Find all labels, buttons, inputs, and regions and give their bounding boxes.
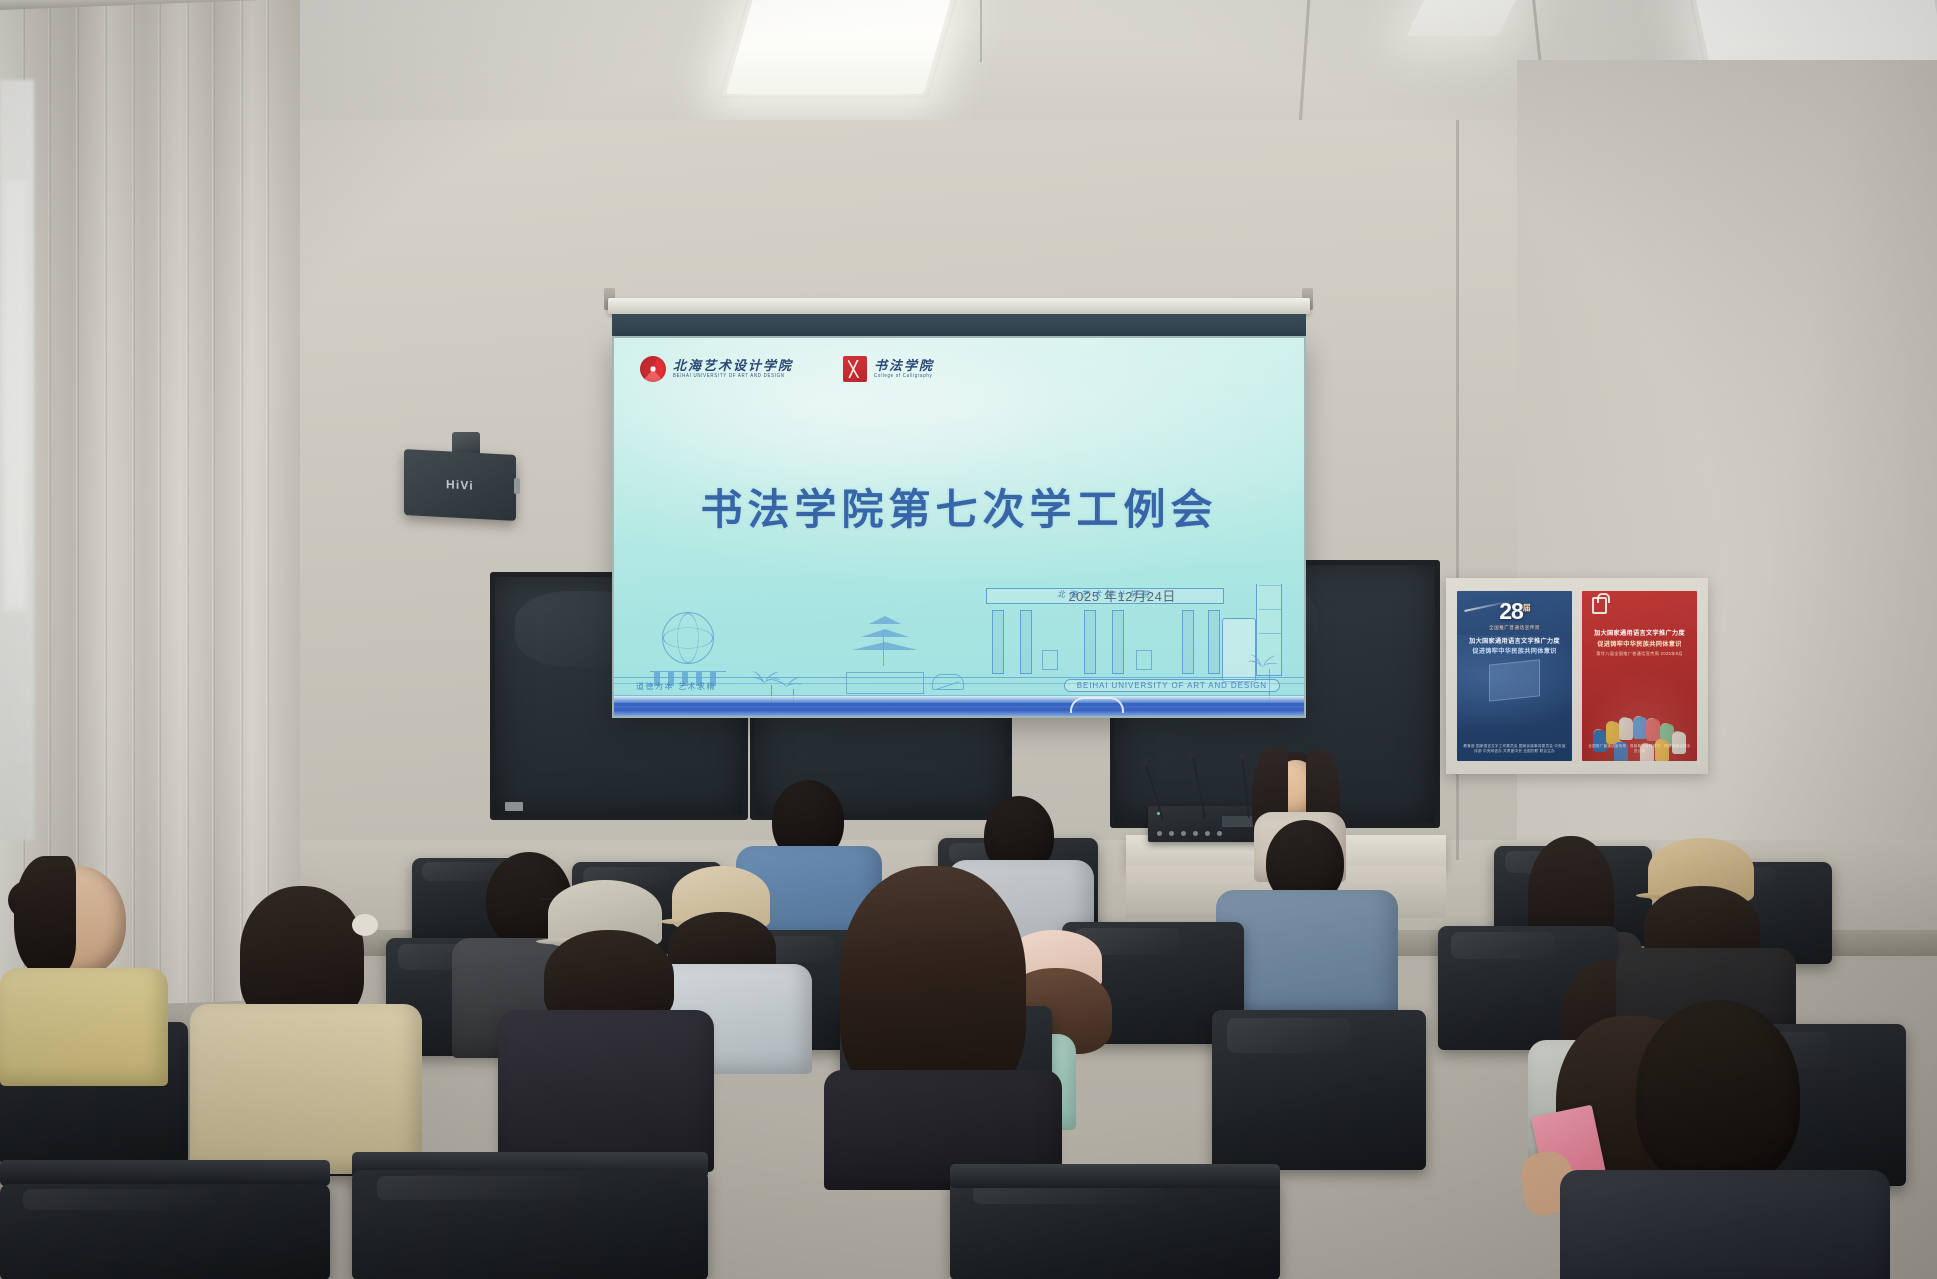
poster-line-2: 促进铸牢中华民族共同体意识 xyxy=(1461,647,1568,656)
poster-red-footer: 全国推广普通话宣传周 · 推普助力乡村振兴 · 同讲普通话携手进小康 xyxy=(1587,744,1692,756)
poster-putonghua-week-blue[interactable]: 28届 全国推广普通话宣传周 加大国家通用语言文字推广力度 促进铸牢中华民族共同… xyxy=(1457,591,1572,761)
college-of-calligraphy-logo: 书法学院 College of Calligraphy xyxy=(843,356,934,382)
ceiling-light-panel-left xyxy=(726,0,953,94)
wave-band-line xyxy=(614,703,1304,706)
wave-band xyxy=(614,696,1304,716)
college-name-en: College of Calligraphy xyxy=(874,373,934,378)
projection-screen[interactable]: 北海艺术设计学院 BEIHAI UNIVERSITY OF ART AND DE… xyxy=(612,336,1306,718)
seat-row3-5[interactable] xyxy=(1212,1010,1426,1170)
beihai-university-logo: 北海艺术设计学院 BEIHAI UNIVERSITY OF ART AND DE… xyxy=(640,356,793,382)
stele-scroll-icon xyxy=(1222,618,1256,682)
college-name-cn: 书法学院 xyxy=(874,360,934,374)
seat-rail-1 xyxy=(0,1160,330,1186)
poster-board: 28届 全国推广普通话宣传周 加大国家通用语言文字推广力度 促进铸牢中华民族共同… xyxy=(1446,578,1708,774)
presentation-slide: 北海艺术设计学院 BEIHAI UNIVERSITY OF ART AND DE… xyxy=(614,338,1304,716)
poster-line-1: 加大国家通用语言文字推广力度 xyxy=(1461,637,1568,646)
speaker-brand-label: HiVi xyxy=(404,475,516,495)
clock-tower-icon xyxy=(1256,584,1282,676)
campus-gate-icon: 北海艺术设计学院 xyxy=(986,588,1224,674)
poster-footer: 教育部 国家语言文字工作委员会 国家民族事务委员会 中央宣传部 中央网信办 共青… xyxy=(1462,744,1567,756)
poster-red-line-3: 第廿八届全国推广普通话宣传周 2025年9月 xyxy=(1586,651,1693,657)
university-name-cn: 北海艺术设计学院 xyxy=(673,360,793,374)
poster-putonghua-week-red[interactable]: 加大国家通用语言文字推广力度 促进铸牢中华民族共同体意识 第廿八届全国推广普通话… xyxy=(1582,591,1697,761)
seat-foreground-3[interactable] xyxy=(950,1176,1280,1279)
slide-logo-row: 北海艺术设计学院 BEIHAI UNIVERSITY OF ART AND DE… xyxy=(640,356,934,382)
speaker-side-detail xyxy=(514,478,520,494)
university-name-en: BEIHAI UNIVERSITY OF ART AND DESIGN xyxy=(673,373,793,378)
swirl-emblem-icon xyxy=(640,356,666,382)
screen-roller-housing[interactable] xyxy=(608,298,1310,314)
slide-motto: 道德为本 艺术求精 xyxy=(636,681,716,692)
seat-foreground-2[interactable] xyxy=(0,1184,330,1279)
screen-top-band xyxy=(612,314,1306,336)
lecture-hall-photo: 北海艺术设计学院 BEIHAI UNIVERSITY OF ART AND DE… xyxy=(0,0,1937,1279)
children-circle-illustration xyxy=(1591,673,1688,735)
seat-foreground-1[interactable] xyxy=(352,1170,708,1279)
led-panel-logo-left xyxy=(505,802,523,811)
seal-stamp-icon xyxy=(843,356,867,382)
poster-screen-graphic xyxy=(1489,660,1540,703)
slide-footer-skyline: 北海艺术设计学院 xyxy=(614,584,1304,716)
poster-red-line-1: 加大国家通用语言文字推广力度 xyxy=(1586,629,1693,638)
ceiling-seam-c xyxy=(980,0,982,62)
seal-lock-icon xyxy=(1592,597,1607,614)
window-highlight xyxy=(4,180,26,610)
slide-title: 书法学院第七次学工例会 xyxy=(614,476,1304,537)
wall-speaker: HiVi xyxy=(404,449,516,521)
seat-rail-3 xyxy=(950,1164,1280,1188)
pagoda-icon xyxy=(852,616,918,668)
poster-number-value: 28 xyxy=(1499,598,1523,624)
wave-curl-icon xyxy=(1070,697,1124,713)
poster-red-line-2: 促进铸牢中华民族共同体意识 xyxy=(1586,640,1693,649)
globe-sculpture-icon xyxy=(662,612,714,664)
poster-number: 28届 xyxy=(1457,598,1572,625)
poster-number-sup: 届 xyxy=(1523,603,1530,612)
slide-university-en: BEIHAI UNIVERSITY OF ART AND DESIGN xyxy=(1064,679,1280,692)
poster-subtitle: 全国推广普通话宣传周 xyxy=(1457,625,1572,631)
gate-inscription: 北海艺术设计学院 xyxy=(986,589,1224,600)
